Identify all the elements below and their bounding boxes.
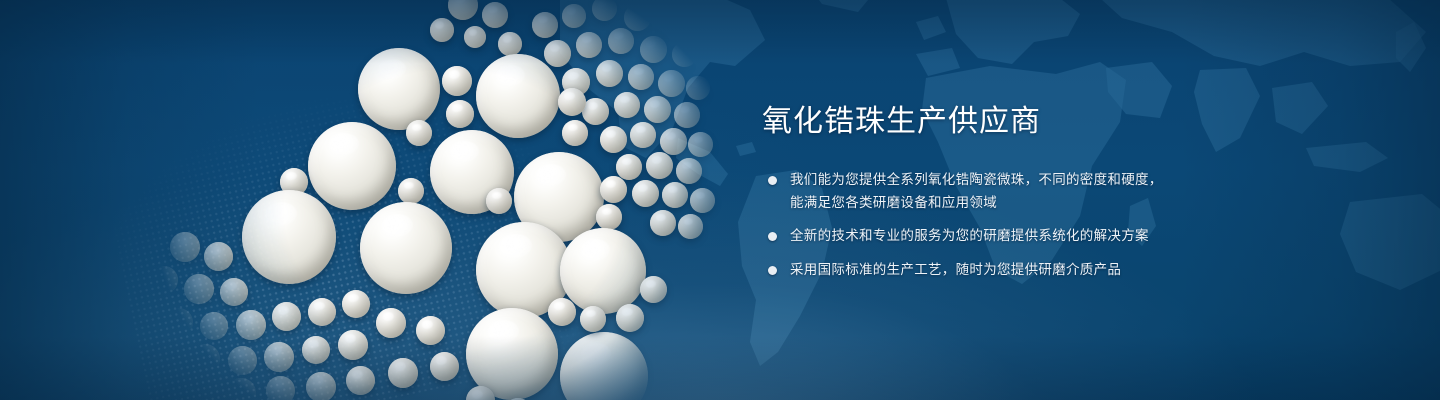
background-vignette — [0, 0, 1440, 400]
hero-banner: 氧化锆珠生产供应商 我们能为您提供全系列氧化锆陶瓷微珠，不同的密度和硬度， 能满… — [0, 0, 1440, 400]
